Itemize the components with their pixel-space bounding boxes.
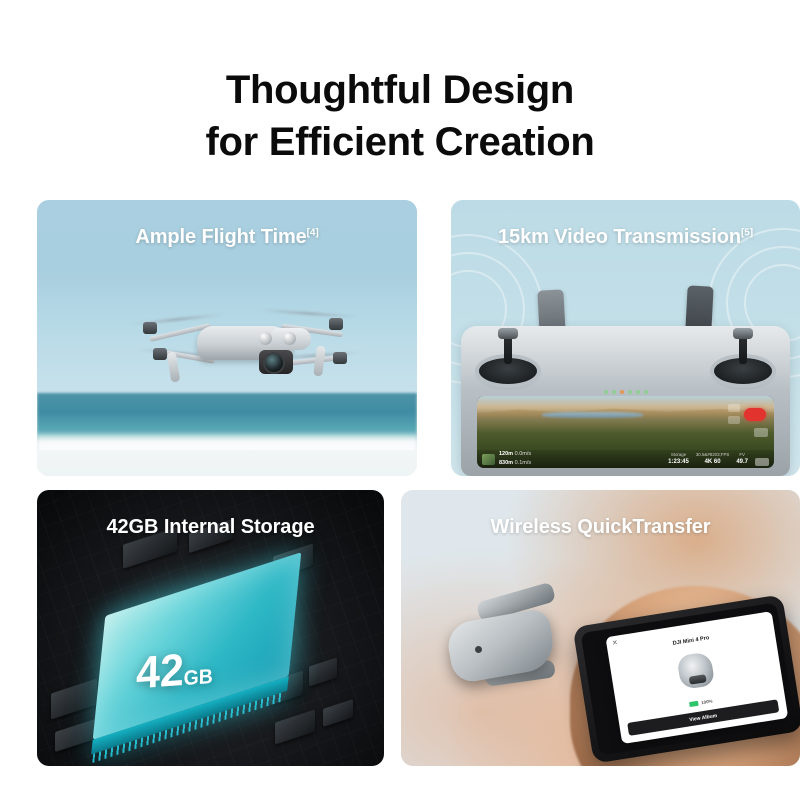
card-title-internal-storage: 42GB Internal Storage	[37, 516, 384, 539]
ocean-band	[37, 393, 417, 440]
status-led-row	[604, 390, 648, 394]
card-title-text: Wireless QuickTransfer	[491, 516, 711, 538]
osd-status-bar: 120m 0.0m/s 830m 0.1m/s Storage	[477, 450, 774, 468]
feature-card-grid: Ample Flight Time[4]	[37, 200, 763, 766]
osd-telemetry-group: 120m 0.0m/s 830m 0.1m/s	[482, 450, 531, 467]
headline-line-2: for Efficient Creation	[0, 116, 800, 168]
card-title-quick-transfer: Wireless QuickTransfer	[401, 516, 800, 539]
landing-leg	[313, 346, 326, 377]
osd-stats-group: Storage 1:23:45 30.5&#8203;FPS 4K 60 FV	[668, 452, 769, 467]
headline-line-1: Thoughtful Design	[226, 68, 574, 112]
propeller-blur-icon	[261, 309, 357, 319]
record-button[interactable]	[744, 408, 766, 421]
camera-lens-icon	[265, 354, 283, 372]
close-icon[interactable]: ✕	[611, 639, 619, 647]
osd-storage-value: 1:23:45	[668, 458, 689, 466]
osd-storage-stat: Storage 1:23:45	[668, 452, 689, 467]
osd-settings-button[interactable]	[728, 416, 740, 424]
battery-icon	[755, 458, 769, 466]
feature-card-flight-time[interactable]: Ample Flight Time[4]	[37, 200, 417, 476]
osd-signal-stat: FV 49.7	[736, 452, 748, 467]
controller-display[interactable]: 120m 0.0m/s 830m 0.1m/s Storage	[477, 396, 774, 468]
battery-percent: 100%	[701, 698, 713, 705]
folded-drone	[435, 586, 585, 714]
card-title-text: 15km Video Transmission	[498, 226, 741, 248]
card-title-text: Ample Flight Time	[135, 226, 306, 248]
sensor-dot-icon	[475, 646, 482, 653]
osd-distance-rate: 0.1m/s	[515, 460, 532, 466]
osd-signal-value: 49.7	[736, 458, 748, 466]
dialog-title: DJI Mini 4 Pro	[608, 625, 775, 657]
osd-distance: 830m	[499, 460, 513, 466]
status-led	[644, 390, 648, 394]
drone-illustration	[133, 296, 353, 400]
obstacle-sensor-icon	[283, 332, 296, 345]
motor-hub	[143, 322, 157, 334]
card-title-text: 42GB Internal Storage	[107, 516, 315, 538]
obstacle-sensor-icon	[259, 332, 272, 345]
chip-capacity-label: 42GB	[136, 646, 214, 697]
osd-altitude-rate: 0.0m/s	[515, 451, 532, 457]
page-title: Thoughtful Design for Efficient Creation	[0, 64, 800, 168]
joystick-cap-right[interactable]	[733, 328, 753, 339]
feature-card-internal-storage[interactable]: 42GB 42GB Internal Storage	[37, 490, 384, 766]
gallery-thumbnail[interactable]	[754, 428, 768, 437]
chip-capacity-unit: GB	[183, 666, 213, 691]
card-title-video-transmission: 15km Video Transmission[5]	[451, 226, 800, 249]
osd-mode-button[interactable]	[728, 404, 740, 412]
status-led	[604, 390, 608, 394]
phone-screen[interactable]: ✕ DJI Mini 4 Pro 100% View Album	[581, 602, 796, 755]
map-thumbnail-icon[interactable]	[482, 454, 495, 465]
status-led	[612, 390, 616, 394]
remote-controller: 120m 0.0m/s 830m 0.1m/s Storage	[461, 286, 790, 476]
status-led	[628, 390, 632, 394]
osd-signal-label: FV	[736, 452, 748, 458]
osd-storage-label: Storage	[668, 452, 689, 458]
joystick-cap-left[interactable]	[498, 328, 518, 339]
chip-capacity-value: 42	[136, 645, 185, 699]
feature-card-video-transmission[interactable]: 120m 0.0m/s 830m 0.1m/s Storage	[451, 200, 800, 476]
status-led	[636, 390, 640, 394]
feature-card-quick-transfer[interactable]: ✕ DJI Mini 4 Pro 100% View Album Wirele	[401, 490, 800, 766]
osd-format-stat: 30.5&#8203;FPS 4K 60	[696, 452, 729, 467]
battery-icon	[689, 701, 699, 707]
motor-hub	[333, 352, 347, 364]
product-feature-page: Thoughtful Design for Efficient Creation	[0, 0, 800, 800]
quicktransfer-dialog[interactable]: ✕ DJI Mini 4 Pro 100% View Album	[605, 611, 788, 744]
card-title-flight-time: Ample Flight Time[4]	[37, 226, 417, 249]
osd-format-value: 4K 60	[696, 458, 729, 466]
motor-hub	[329, 318, 343, 330]
battery-status: 100%	[689, 698, 713, 707]
river-shape	[542, 412, 643, 418]
card-footnote: [4]	[307, 227, 319, 238]
card-footnote: [5]	[741, 227, 753, 238]
motor-hub	[153, 348, 167, 360]
drone-thumbnail-icon	[676, 651, 715, 690]
sand-band	[37, 450, 417, 476]
osd-format-label: 30.5&#8203;FPS	[696, 452, 729, 458]
osd-altitude: 120m	[499, 451, 513, 457]
osd-altitude-line: 120m 0.0m/s 830m 0.1m/s	[499, 450, 531, 467]
status-led	[620, 390, 624, 394]
